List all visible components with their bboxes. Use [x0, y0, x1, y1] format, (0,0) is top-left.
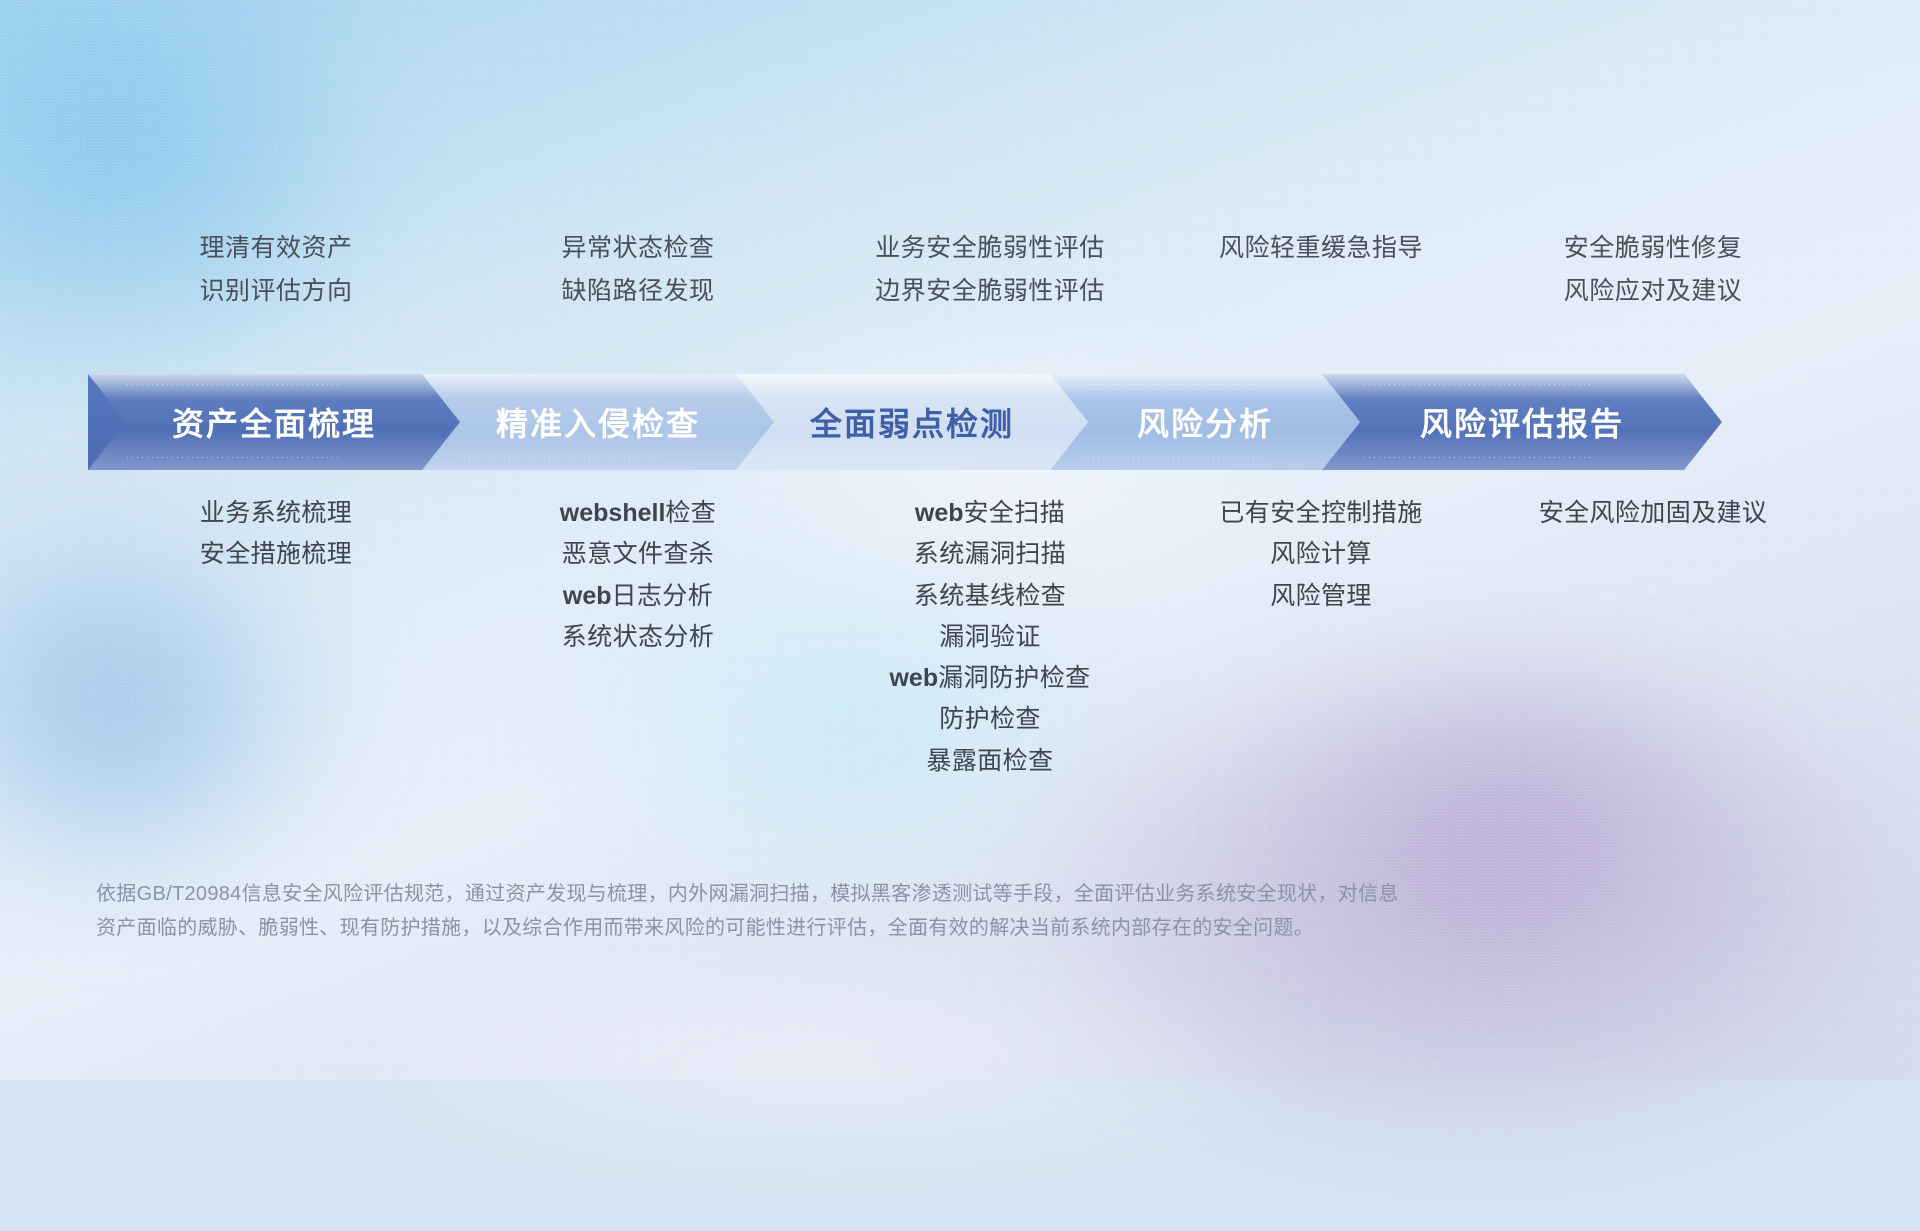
- item-latin-token: webshell: [560, 499, 666, 527]
- stage-top-item: 理清有效资产: [199, 236, 352, 261]
- stage-chevron-weakness-detection[interactable]: 全面弱点检测: [736, 374, 1088, 470]
- chevron-title: 全面弱点检测: [810, 399, 1014, 445]
- item-text-token: 安全措施梳理: [200, 540, 352, 568]
- process-diagram: 理清有效资产识别评估方向异常状态检查缺陷路径发现业务安全脆弱性评估边界安全脆弱性…: [0, 0, 1920, 1080]
- stage-chevron-banner: 资产全面梳理精准入侵检查全面弱点检测风险分析风险评估报告: [88, 374, 1834, 470]
- stage-bottom-item: webshell检查: [560, 500, 716, 526]
- stage-top-item: 业务安全脆弱性评估: [875, 236, 1105, 261]
- chevron-title: 精准入侵检查: [496, 399, 700, 445]
- chevron-title: 风险评估报告: [1420, 399, 1624, 445]
- stage-chevron-intrusion-check[interactable]: 精准入侵检查: [422, 374, 774, 470]
- item-text-token: 系统基线检查: [914, 582, 1066, 610]
- stage-top-item: 风险轻重缓急指导: [1219, 236, 1423, 261]
- stage-top-group-risk-analysis: 风险轻重缓急指导: [1166, 236, 1476, 304]
- stage-bottom-item: 恶意文件查杀: [562, 541, 714, 567]
- stage-bottom-group-intrusion-check: webshell检查恶意文件查杀web日志分析系统状态分析: [462, 500, 814, 774]
- footer-description: 依据GB/T20984信息安全风险评估规范，通过资产发现与梳理，内外网漏洞扫描，…: [96, 877, 1656, 945]
- item-text-token: 漏洞防护检查: [938, 664, 1090, 692]
- item-text-token: 业务系统梳理: [200, 499, 352, 527]
- stage-top-item: 风险应对及建议: [1564, 279, 1743, 304]
- item-text-token: 风险计算: [1270, 540, 1372, 568]
- stage-bottom-item: 系统状态分析: [562, 624, 714, 650]
- item-text-token: 恶意文件查杀: [562, 540, 714, 568]
- item-text-token: 系统状态分析: [562, 623, 714, 651]
- chevron-title: 风险分析: [1137, 399, 1273, 445]
- item-text-token: 安全风险加固及建议: [1539, 499, 1768, 527]
- stage-bottom-item: 安全措施梳理: [200, 541, 352, 567]
- stage-bottom-labels: 业务系统梳理安全措施梳理webshell检查恶意文件查杀web日志分析系统状态分…: [90, 500, 1830, 774]
- stage-bottom-group-asset-inventory: 业务系统梳理安全措施梳理: [90, 500, 462, 774]
- stage-bottom-item: 风险管理: [1270, 583, 1372, 609]
- stage-bottom-item: 暴露面检查: [926, 748, 1053, 774]
- footer-line-1: 依据GB/T20984信息安全风险评估规范，通过资产发现与梳理，内外网漏洞扫描，…: [96, 877, 1656, 911]
- item-text-token: 漏洞验证: [939, 623, 1041, 651]
- stage-top-group-weakness-detection: 业务安全脆弱性评估边界安全脆弱性评估: [814, 236, 1166, 304]
- stage-top-group-asset-inventory: 理清有效资产识别评估方向: [90, 236, 462, 304]
- stage-chevron-asset-inventory[interactable]: 资产全面梳理: [88, 374, 460, 470]
- stage-bottom-item: web安全扫描: [915, 500, 1065, 526]
- stage-bottom-item: 风险计算: [1270, 541, 1372, 567]
- item-text-token: 暴露面检查: [926, 747, 1053, 775]
- stage-top-group-risk-report: 安全脆弱性修复风险应对及建议: [1476, 236, 1830, 304]
- stage-top-item: 安全脆弱性修复: [1564, 236, 1743, 261]
- stage-top-labels: 理清有效资产识别评估方向异常状态检查缺陷路径发现业务安全脆弱性评估边界安全脆弱性…: [90, 236, 1830, 304]
- item-text-token: 系统漏洞扫描: [914, 540, 1066, 568]
- stage-top-item: 异常状态检查: [561, 236, 714, 261]
- stage-bottom-item: 系统基线检查: [914, 583, 1066, 609]
- stage-bottom-group-risk-report: 安全风险加固及建议: [1476, 500, 1830, 774]
- stage-bottom-item: 业务系统梳理: [200, 500, 352, 526]
- item-text-token: 日志分析: [612, 582, 714, 610]
- stage-bottom-item: web漏洞防护检查: [889, 665, 1090, 691]
- stage-bottom-group-risk-analysis: 已有安全控制措施风险计算风险管理: [1166, 500, 1476, 774]
- stage-chevron-risk-analysis[interactable]: 风险分析: [1050, 374, 1360, 470]
- stage-top-group-intrusion-check: 异常状态检查缺陷路径发现: [462, 236, 814, 304]
- stage-top-item: 识别评估方向: [199, 279, 352, 304]
- item-text-token: 已有安全控制措施: [1219, 499, 1422, 527]
- stage-chevron-risk-report[interactable]: 风险评估报告: [1322, 374, 1722, 470]
- item-text-token: 防护检查: [939, 705, 1041, 733]
- item-text-token: 安全扫描: [964, 499, 1066, 527]
- item-text-token: 风险管理: [1270, 582, 1372, 610]
- chevron-title: 资产全面梳理: [172, 399, 376, 445]
- stage-bottom-item: 防护检查: [939, 706, 1041, 732]
- stage-bottom-item: 已有安全控制措施: [1219, 500, 1422, 526]
- stage-bottom-item: 安全风险加固及建议: [1539, 500, 1768, 526]
- item-text-token: 检查: [665, 499, 716, 527]
- item-latin-token: web: [915, 499, 964, 527]
- stage-bottom-item: 漏洞验证: [939, 624, 1041, 650]
- item-latin-token: web: [889, 664, 938, 692]
- item-latin-token: web: [563, 582, 612, 610]
- footer-line-2: 资产面临的威胁、脆弱性、现有防护措施，以及综合作用而带来风险的可能性进行评估，全…: [96, 911, 1656, 945]
- stage-top-item: 缺陷路径发现: [561, 279, 714, 304]
- stage-bottom-item: web日志分析: [563, 583, 713, 609]
- stage-bottom-item: 系统漏洞扫描: [914, 541, 1066, 567]
- stage-bottom-group-weakness-detection: web安全扫描系统漏洞扫描系统基线检查漏洞验证web漏洞防护检查防护检查暴露面检…: [814, 500, 1166, 774]
- stage-top-item: 边界安全脆弱性评估: [875, 279, 1105, 304]
